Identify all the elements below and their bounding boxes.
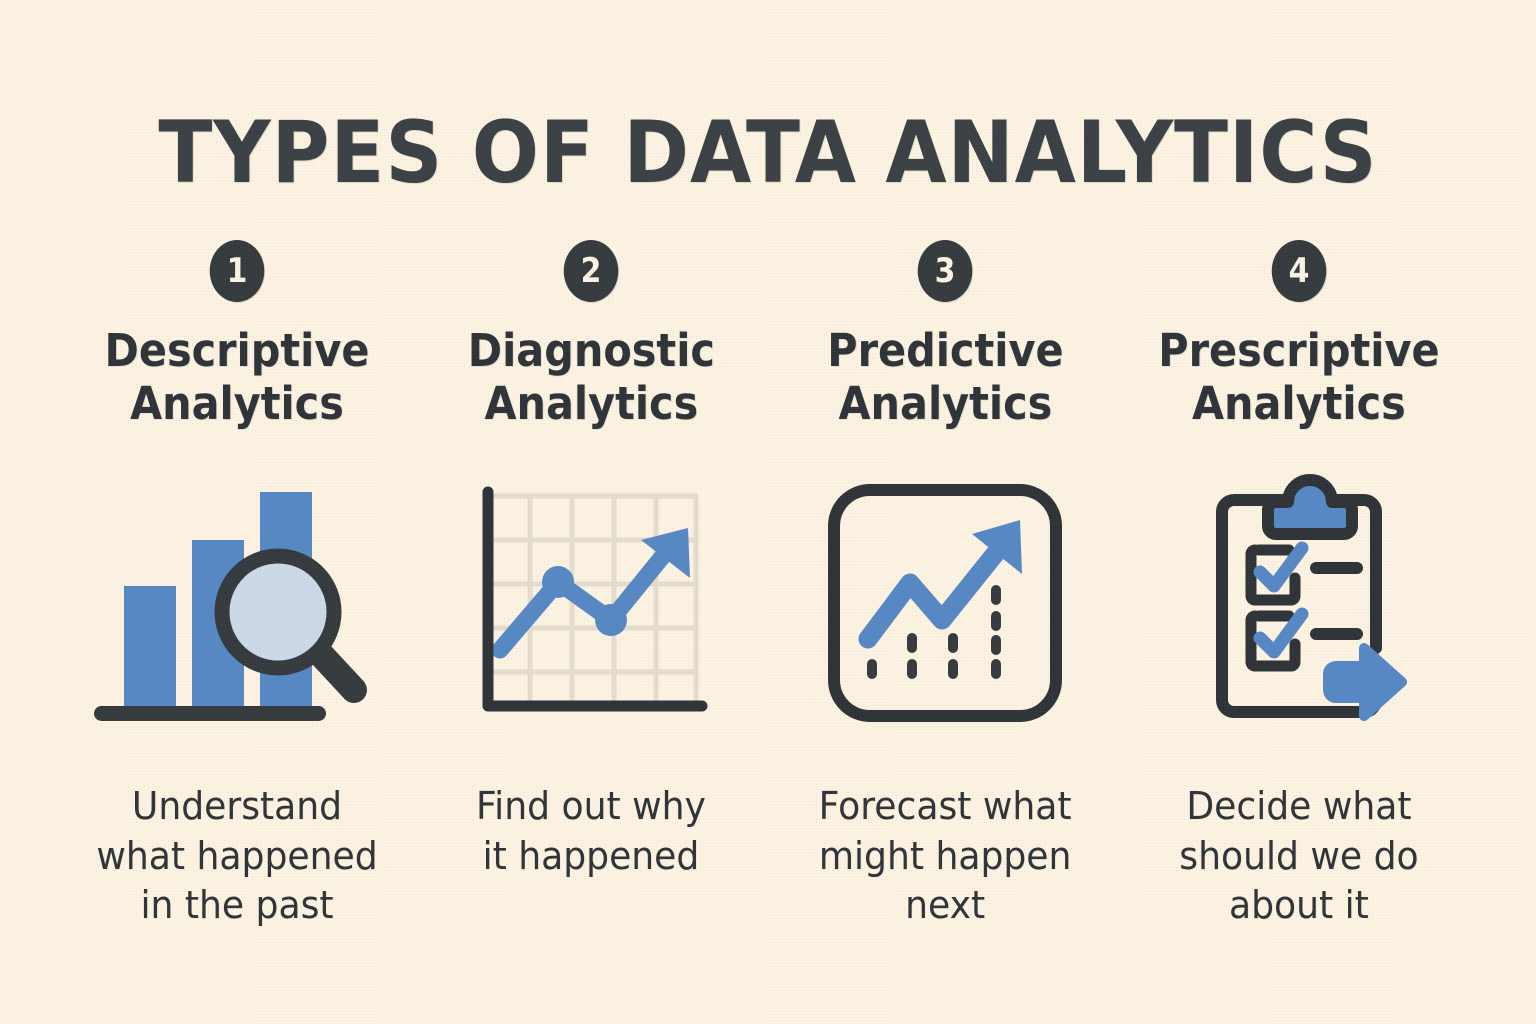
bar-chart-magnifier-icon: [82, 458, 392, 758]
analytics-column-prescriptive: 4 Prescriptive Analytics: [1122, 240, 1476, 930]
column-caption: Forecast what might happen next: [819, 782, 1072, 930]
analytics-column-diagnostic: 2 Diagnostic Analytics: [414, 240, 768, 881]
analytics-column-descriptive: 1 Descriptive Analytics Understand what …: [60, 240, 414, 930]
step-number-badge: 4: [1272, 240, 1327, 302]
framed-trend-arrow-icon: [820, 458, 1070, 758]
column-heading: Prescriptive Analytics: [1158, 324, 1439, 430]
column-caption: Decide what should we do about it: [1179, 782, 1418, 930]
analytics-columns: 1 Descriptive Analytics Understand what …: [60, 240, 1476, 930]
column-heading: Descriptive Analytics: [105, 324, 370, 430]
analytics-column-predictive: 3 Predictive Analytics: [768, 240, 1122, 930]
column-heading: Diagnostic Analytics: [467, 324, 714, 430]
column-caption: Find out why it happened: [476, 782, 706, 881]
column-heading: Predictive Analytics: [827, 324, 1063, 430]
step-number-badge: 2: [564, 240, 619, 302]
step-number-badge: 1: [210, 240, 265, 302]
grid-line-chart-arrow-icon: [466, 458, 716, 758]
infographic-poster: TYPES OF DATA ANALYTICS 1 Descriptive An…: [0, 0, 1536, 1024]
column-caption: Understand what happened in the past: [96, 782, 377, 930]
page-title: TYPES OF DATA ANALYTICS: [61, 110, 1474, 196]
step-number-badge: 3: [918, 240, 973, 302]
clipboard-checklist-arrow-icon: [1164, 458, 1434, 758]
